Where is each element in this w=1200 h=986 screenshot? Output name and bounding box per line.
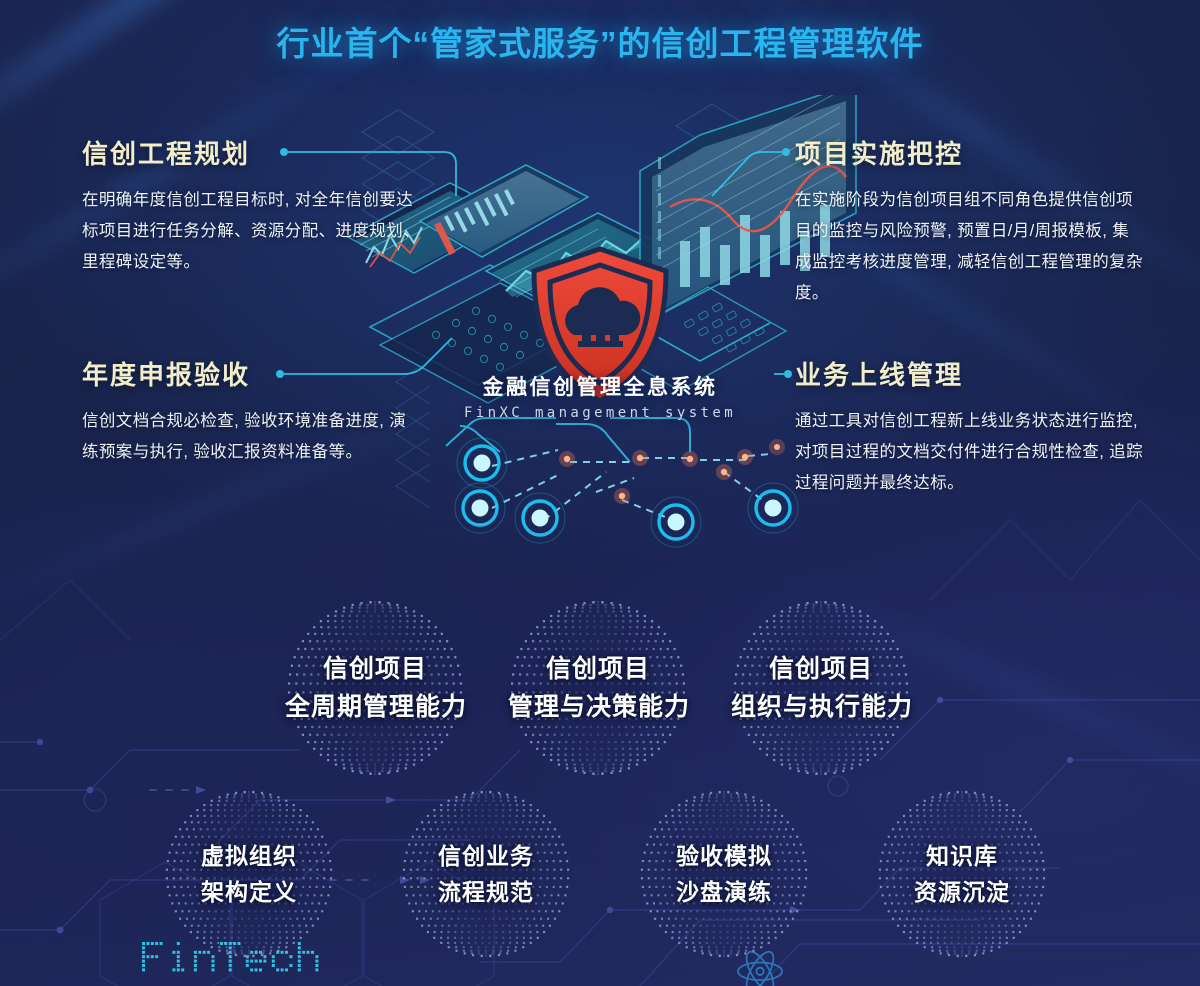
capability-line2: 流程规范	[400, 874, 572, 910]
capability-line1: 信创项目	[285, 650, 465, 688]
capability-line1: 验收模拟	[638, 838, 810, 874]
capability-sphere: 验收模拟 沙盘演练	[638, 788, 810, 960]
page-title: 行业首个“管家式服务”的信创工程管理软件	[0, 17, 1200, 65]
feature-body: 在明确年度信创工程目标时, 对全年信创要达标项目进行任务分解、资源分配、进度规划…	[82, 185, 422, 278]
system-name-en: FinXC management system	[0, 405, 1200, 421]
capability-line1: 知识库	[876, 838, 1048, 874]
feature-body: 在实施阶段为信创项目组不同角色提供信创项目的监控与风险预警, 预置日/月/周报模…	[795, 185, 1145, 309]
capability-line2: 管理与决策能力	[508, 688, 688, 726]
capability-sphere: 虚拟组织 架构定义	[163, 788, 335, 960]
capability-line2: 全周期管理能力	[285, 688, 465, 726]
capability-sphere: 信创业务 流程规范	[400, 788, 572, 960]
capability-line2: 沙盘演练	[638, 874, 810, 910]
feature-heading: 信创工程规划	[82, 134, 422, 171]
capability-line1: 信创业务	[400, 838, 572, 874]
capability-label: 信创项目 全周期管理能力	[285, 650, 465, 726]
capability-line1: 虚拟组织	[163, 838, 335, 874]
system-caption: 金融信创管理全息系统 FinXC management system	[0, 371, 1200, 421]
feature-heading: 项目实施把控	[795, 134, 1145, 171]
capability-sphere: 信创项目 全周期管理能力	[285, 598, 465, 778]
capability-label: 信创项目 组织与执行能力	[731, 650, 911, 726]
capability-sphere: 信创项目 组织与执行能力	[731, 598, 911, 778]
capability-sphere: 信创项目 管理与决策能力	[508, 598, 688, 778]
feature-block-planning: 信创工程规划 在明确年度信创工程目标时, 对全年信创要达标项目进行任务分解、资源…	[82, 134, 422, 278]
capability-label: 验收模拟 沙盘演练	[638, 838, 810, 910]
capability-label: 知识库 资源沉淀	[876, 838, 1048, 910]
system-name-cn: 金融信创管理全息系统	[0, 371, 1200, 401]
capability-label: 信创业务 流程规范	[400, 838, 572, 910]
capability-sphere: 知识库 资源沉淀	[876, 788, 1048, 960]
capability-label: 虚拟组织 架构定义	[163, 838, 335, 910]
capability-label: 信创项目 管理与决策能力	[508, 650, 688, 726]
capability-line2: 组织与执行能力	[731, 688, 911, 726]
capability-line2: 架构定义	[163, 874, 335, 910]
feature-block-execution: 项目实施把控 在实施阶段为信创项目组不同角色提供信创项目的监控与风险预警, 预置…	[795, 134, 1145, 309]
capability-line1: 信创项目	[508, 650, 688, 688]
capability-line1: 信创项目	[731, 650, 911, 688]
capability-line2: 资源沉淀	[876, 874, 1048, 910]
